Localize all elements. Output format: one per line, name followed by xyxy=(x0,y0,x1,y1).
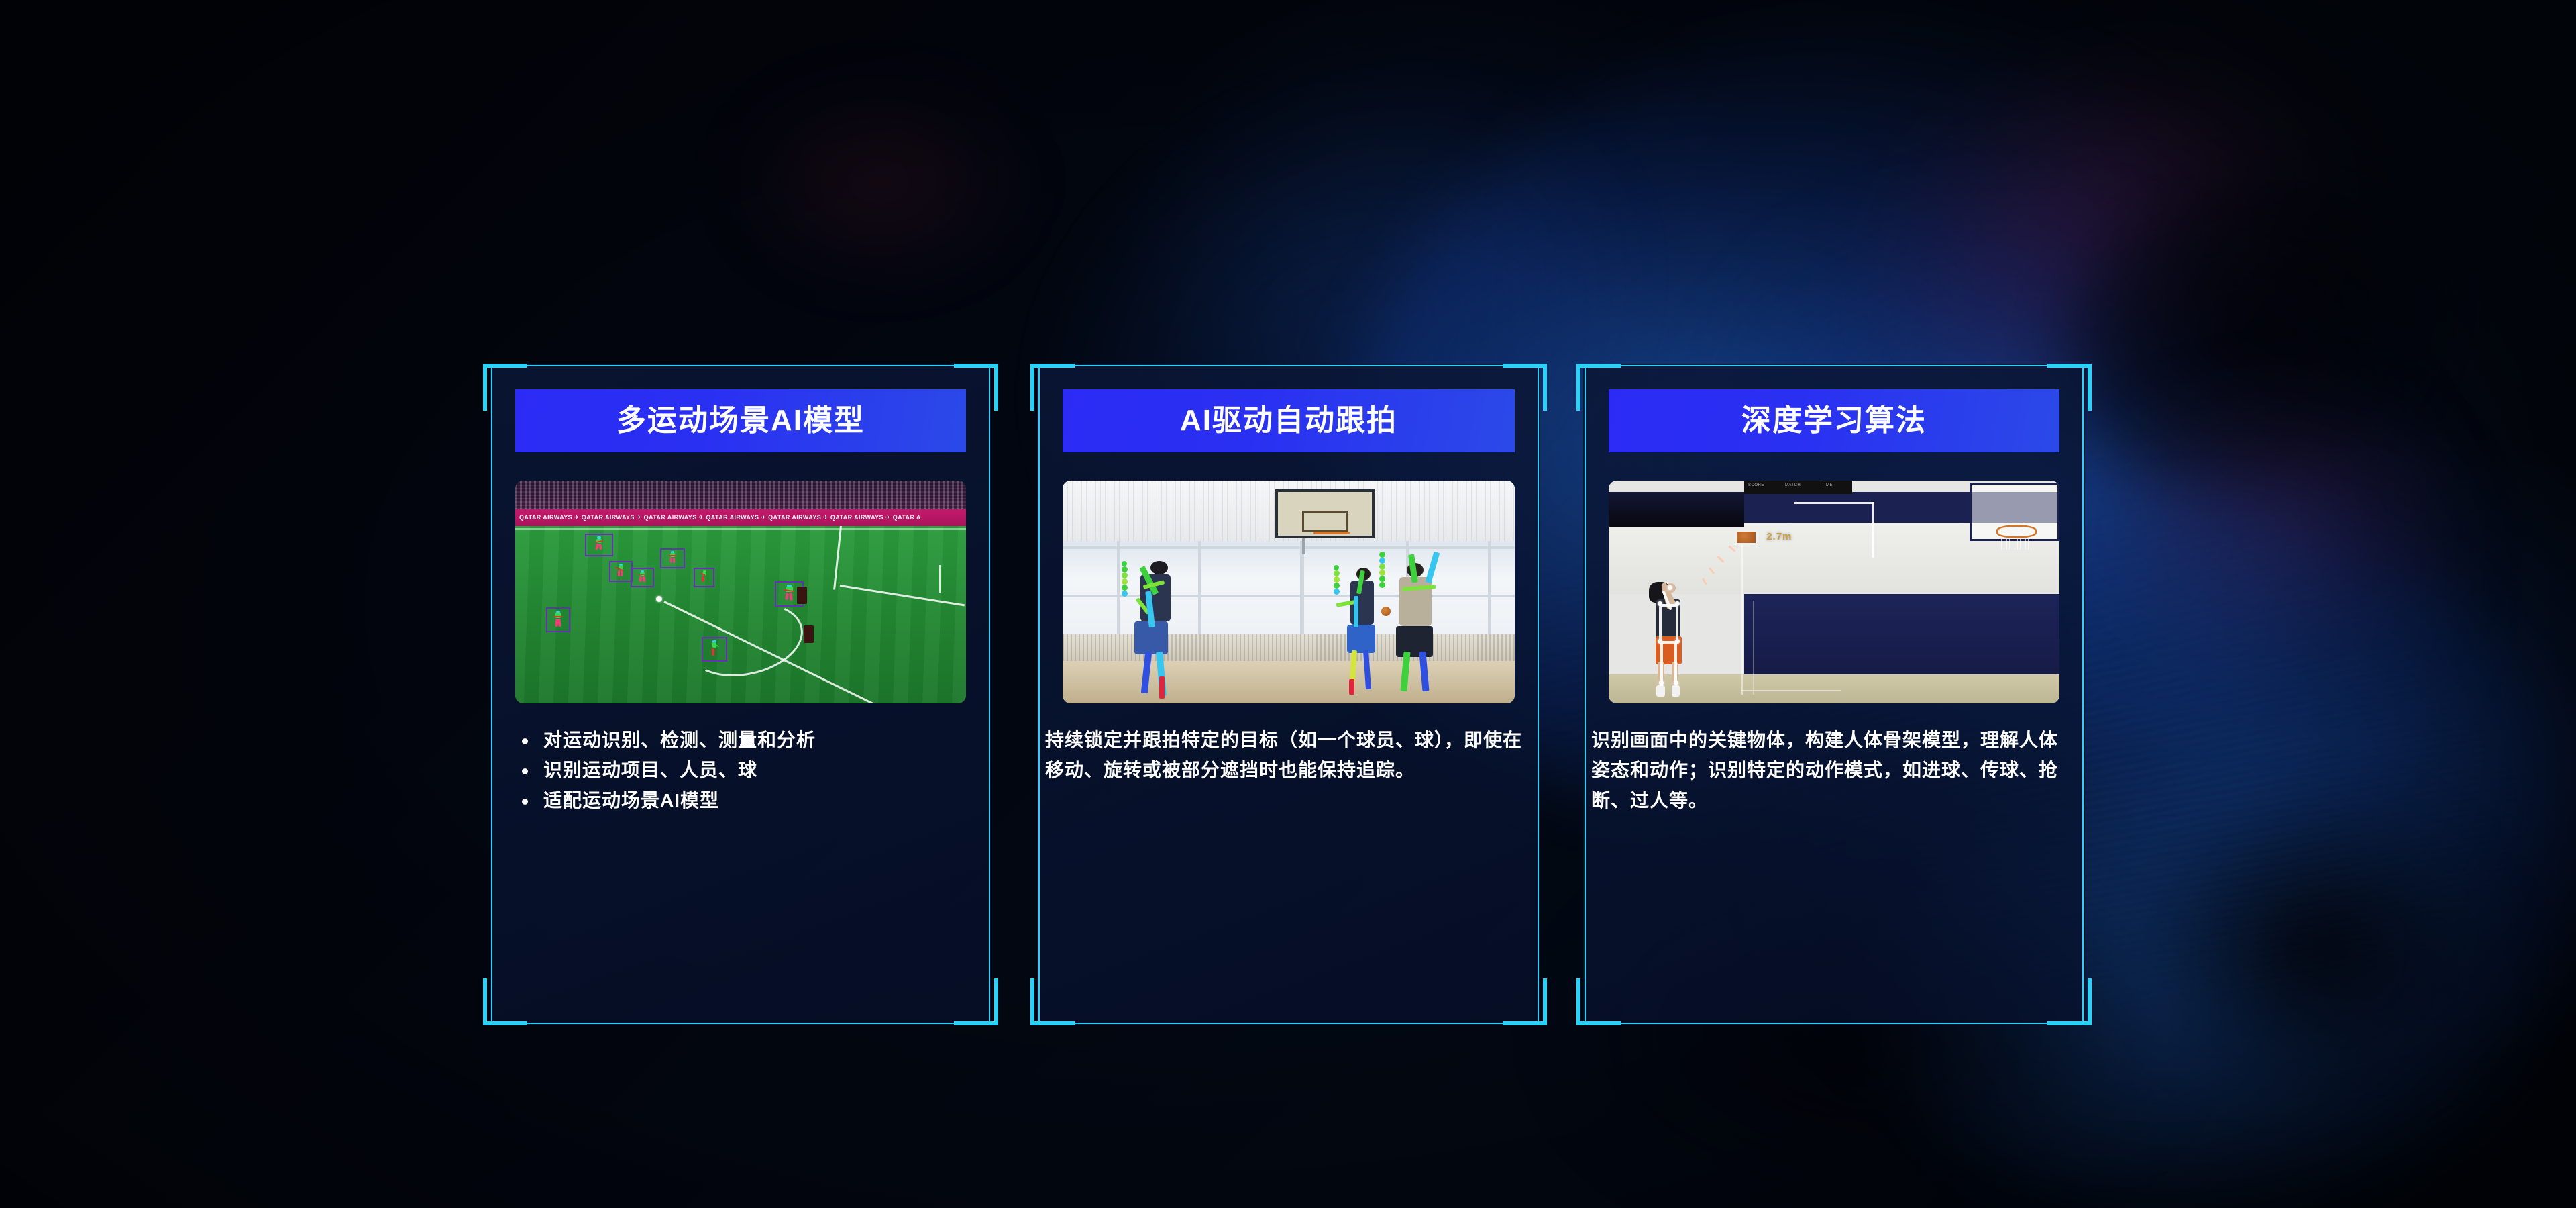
referee-figure-1 xyxy=(797,587,807,604)
detection-box xyxy=(660,548,684,568)
court-net xyxy=(2001,538,2033,550)
skeleton-bone xyxy=(1660,641,1663,683)
ball-tracking-box xyxy=(1735,530,1758,545)
card-image-basketball-court-shot-measurement: SCORE MATCH TIME xyxy=(1609,481,2059,703)
measure-guide-drop-mid xyxy=(1753,601,1754,694)
measure-guide-floor xyxy=(1741,690,1841,691)
feature-paragraph: 识别画面中的关键物体，构建人体骨架模型，理解人体姿态和动作；识别特定的动作模式，… xyxy=(1591,725,2077,815)
feature-paragraph: 持续锁定并跟拍特定的目标（如一个球员、球），即使在移动、旋转或被部分遮挡时也能保… xyxy=(1045,725,1532,785)
pitch-line-right xyxy=(939,565,941,593)
feature-card-deep-learning-algorithm[interactable]: 深度学习算法 SCORE MATCH TIME xyxy=(1576,357,2092,1032)
skeleton-keypoint xyxy=(1675,639,1680,644)
list-item: 识别运动项目、人员、球 xyxy=(513,755,971,785)
window-mullion xyxy=(1063,546,1515,549)
hoop-support-pole xyxy=(1302,536,1305,554)
detection-box xyxy=(631,568,654,587)
detection-box xyxy=(609,561,633,583)
court-wall-dark-band xyxy=(1609,492,1744,527)
referee-figure-2 xyxy=(804,625,814,643)
pitch-line-box-vert xyxy=(833,526,842,590)
detection-box xyxy=(585,534,613,556)
window-mullion xyxy=(1117,541,1120,634)
qatar-airways-banner: QATAR AIRWAYS ✈ QATAR AIRWAYS ✈ QATAR AI… xyxy=(515,509,966,526)
card-image-indoor-gym-basketball-pose-tracking xyxy=(1063,481,1515,703)
card-body-text: 对运动识别、检测、测量和分析 识别运动项目、人员、球 适配运动场景AI模型 xyxy=(513,725,971,815)
window-mullion xyxy=(1300,541,1304,634)
measure-guide-vertical xyxy=(1872,502,1874,558)
feature-card-row: 多运动场景AI模型 QATAR AIRWAYS ✈ QATAR AIRWAYS … xyxy=(0,0,2576,1208)
card-body-text: 识别画面中的关键物体，构建人体骨架模型，理解人体姿态和动作；识别特定的动作模式，… xyxy=(1591,725,2077,815)
card-title: AI驱动自动跟拍 xyxy=(1180,406,1397,436)
detection-box xyxy=(546,607,570,632)
card-title: 多运动场景AI模型 xyxy=(616,406,865,436)
skeleton-bone xyxy=(1674,641,1677,683)
detection-box xyxy=(702,637,727,662)
gym-backboard xyxy=(1275,489,1375,538)
list-item: 对运动识别、检测、测量和分析 xyxy=(513,725,971,755)
card-title: 深度学习算法 xyxy=(1741,406,1927,436)
feature-card-multi-sport-ai-model[interactable]: 多运动场景AI模型 QATAR AIRWAYS ✈ QATAR AIRWAYS … xyxy=(483,357,998,1032)
scoreboard-label-match: MATCH xyxy=(1785,483,1801,487)
backboard-inner-square xyxy=(1302,511,1347,532)
skeleton-keypoint xyxy=(1674,681,1678,685)
scoreboard-label-score: SCORE xyxy=(1748,483,1764,487)
gym-rim xyxy=(1313,532,1350,534)
court-scoreboard: SCORE MATCH TIME xyxy=(1744,481,1852,494)
pose-skeleton-player-left xyxy=(1122,561,1194,699)
card-header-bar: 深度学习算法 xyxy=(1609,389,2059,452)
measure-guide-drop-left xyxy=(1741,530,1743,695)
card-body-text: 持续锁定并跟拍特定的目标（如一个球员、球），即使在移动、旋转或被部分遮挡时也能保… xyxy=(1045,725,1532,785)
card-header-bar: 多运动场景AI模型 xyxy=(515,389,966,452)
court-rim xyxy=(1996,525,2037,538)
soccer-pitch xyxy=(515,526,966,703)
scoreboard-label-time: TIME xyxy=(1822,483,1833,487)
skeleton-bone xyxy=(1676,606,1678,641)
feature-bullet-list: 对运动识别、检测、测量和分析 识别运动项目、人员、球 适配运动场景AI模型 xyxy=(513,725,971,815)
skeleton-bone xyxy=(1659,606,1662,641)
court-wall-navy-lower xyxy=(1744,594,2059,674)
banner-text: QATAR AIRWAYS ✈ QATAR AIRWAYS ✈ QATAR AI… xyxy=(515,514,921,521)
pose-skeleton-player-right xyxy=(1379,552,1456,694)
player-shoe-left xyxy=(1656,685,1664,697)
measurement-label: 2.7m xyxy=(1766,531,1792,542)
player-shoe-right xyxy=(1672,685,1680,697)
window-mullion xyxy=(1488,541,1491,634)
card-image-soccer-field-detection-screenshot: QATAR AIRWAYS ✈ QATAR AIRWAYS ✈ QATAR AI… xyxy=(515,481,966,703)
window-mullion xyxy=(1198,541,1201,634)
measure-guide-horizontal xyxy=(1794,502,1875,504)
soccer-ball xyxy=(656,596,662,602)
list-item: 适配运动场景AI模型 xyxy=(513,785,971,815)
detection-box xyxy=(694,568,714,587)
stadium-crowd xyxy=(515,481,966,509)
feature-card-ai-auto-tracking[interactable]: AI驱动自动跟拍 xyxy=(1030,357,1547,1032)
card-header-bar: AI驱动自动跟拍 xyxy=(1063,389,1515,452)
pitch-line-box-horiz xyxy=(840,585,965,606)
court-player-shooting xyxy=(1640,581,1703,697)
pitch-line-far xyxy=(515,528,966,530)
